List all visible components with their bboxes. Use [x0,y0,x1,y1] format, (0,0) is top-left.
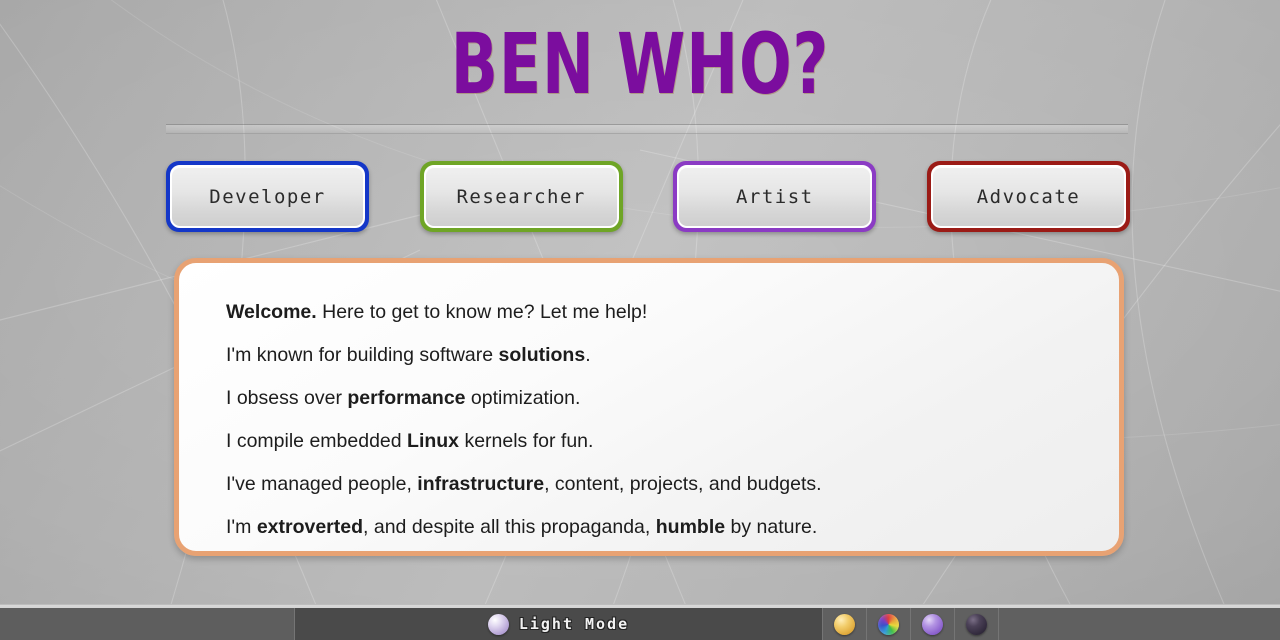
light-mode-toggle[interactable]: Light Mode [294,608,823,640]
taskbar-left-spacer [0,608,294,640]
page-title: BEN WHO? [115,14,1165,114]
nav-row: Developer Researcher Artist Advocate [166,161,1130,232]
theme-swatch-gold[interactable] [823,608,867,640]
nav-button-artist[interactable]: Artist [673,161,876,232]
purple-sphere-icon [922,614,943,635]
card-line-extroverted-pre: I'm [226,516,257,538]
content-card: Welcome. Here to get to know me? Let me … [174,258,1124,556]
nav-button-developer-label: Developer [209,186,325,208]
card-line-performance-post: optimization. [466,387,581,409]
card-line-infrastructure: I've managed people, infrastructure, con… [226,463,1119,506]
gold-sphere-icon [834,614,855,635]
nav-button-researcher-inner: Researcher [424,165,619,228]
card-line-extroverted: I'm extroverted, and despite all this pr… [226,506,1119,549]
card-line-linux-bold: Linux [407,430,459,452]
header-divider [166,124,1128,134]
card-line-welcome-rest: Here to get to know me? Let me help! [317,301,648,323]
theme-swatch-dark[interactable] [955,608,999,640]
lavender-sphere-icon [488,614,509,635]
light-mode-label: Light Mode [519,615,629,633]
color-wheel-icon [878,614,899,635]
theme-swatch-rainbow[interactable] [867,608,911,640]
card-line-infrastructure-post: , content, projects, and budgets. [544,473,822,495]
card-line-welcome: Welcome. Here to get to know me? Let me … [226,291,1119,334]
card-line-solutions-pre: I'm known for building software [226,344,499,366]
content-card-body: Welcome. Here to get to know me? Let me … [179,263,1119,549]
card-line-extroverted-mid: , and despite all this propaganda, [363,516,656,538]
card-line-extroverted-post: by nature. [725,516,817,538]
nav-button-advocate-inner: Advocate [931,165,1126,228]
card-line-linux-post: kernels for fun. [459,430,593,452]
nav-button-researcher-label: Researcher [456,186,585,208]
nav-button-developer[interactable]: Developer [166,161,369,232]
card-line-solutions: I'm known for building software solution… [226,334,1119,377]
card-line-performance: I obsess over performance optimization. [226,377,1119,420]
nav-button-artist-inner: Artist [677,165,872,228]
desktop-area: BEN WHO? Developer Researcher Artist Adv… [0,0,1280,604]
taskbar: Light Mode [0,608,1280,640]
card-line-performance-bold: performance [347,387,465,409]
card-line-welcome-lead: Welcome. [226,301,317,323]
card-line-linux-pre: I compile embedded [226,430,407,452]
nav-button-artist-label: Artist [736,186,814,208]
dark-sphere-icon [966,614,987,635]
card-line-infrastructure-pre: I've managed people, [226,473,417,495]
card-line-solutions-post: . [585,344,590,366]
card-line-extroverted-bold2: humble [656,516,725,538]
nav-button-researcher[interactable]: Researcher [420,161,623,232]
card-line-performance-pre: I obsess over [226,387,347,409]
card-line-extroverted-bold: extroverted [257,516,363,538]
card-line-infrastructure-bold: infrastructure [417,473,544,495]
card-line-solutions-bold: solutions [499,344,586,366]
theme-swatch-purple[interactable] [911,608,955,640]
taskbar-right-spacer [999,608,1280,640]
card-line-linux: I compile embedded Linux kernels for fun… [226,420,1119,463]
nav-button-advocate[interactable]: Advocate [927,161,1130,232]
nav-button-advocate-label: Advocate [977,186,1081,208]
nav-button-developer-inner: Developer [170,165,365,228]
